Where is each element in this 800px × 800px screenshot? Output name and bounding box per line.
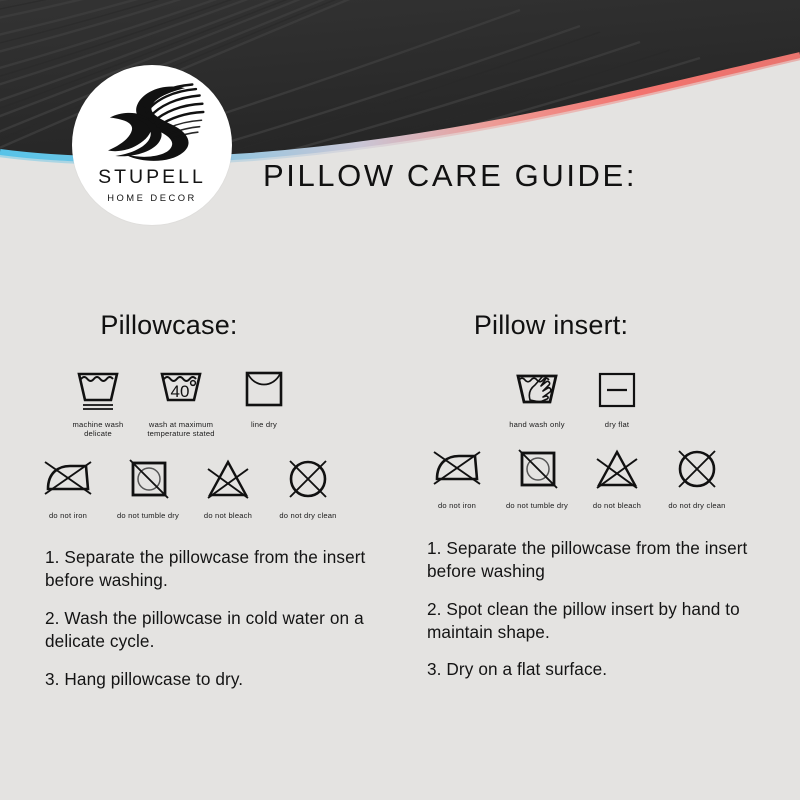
wash-40-degrees-icon: 40 xyxy=(156,363,206,415)
pillow-insert-steps: 1. Separate the pillowcase from the inse… xyxy=(405,537,785,681)
pillowcase-icon-row-1: machine washdelicate 40 wash at maximumt… xyxy=(20,363,400,439)
dry-flat-icon xyxy=(592,363,642,415)
step-item: 3. Hang pillowcase to dry. xyxy=(45,668,394,691)
care-icon-caption: do not iron xyxy=(438,501,476,510)
do-not-bleach-icon xyxy=(200,453,256,505)
care-icon-caption: do not bleach xyxy=(593,501,641,510)
care-icon-caption: do not dry clean xyxy=(668,501,725,510)
care-icon-cell: do not iron xyxy=(28,453,108,520)
pillowcase-steps: 1. Separate the pillowcase from the inse… xyxy=(20,546,400,690)
pillow-insert-section: Pillow insert: hand wash only xyxy=(405,310,785,696)
care-icon-cell: dry flat xyxy=(577,363,657,429)
hand-wash-only-icon xyxy=(512,363,562,415)
do-not-bleach-icon xyxy=(589,443,645,495)
care-icon-caption: dry flat xyxy=(605,420,629,429)
care-icon-cell: do not bleach xyxy=(188,453,268,520)
care-icon-cell: machine washdelicate xyxy=(58,363,138,439)
machine-wash-delicate-icon xyxy=(73,363,123,415)
do-not-tumble-dry-icon xyxy=(120,453,176,505)
care-icon-cell: 40 wash at maximumtemperature stated xyxy=(138,363,224,439)
care-icon-caption: do not tumble dry xyxy=(117,511,179,520)
step-item: 2. Spot clean the pillow insert by hand … xyxy=(427,598,779,644)
step-item: 1. Separate the pillowcase from the inse… xyxy=(45,546,394,592)
care-icon-caption: line dry xyxy=(251,420,277,429)
care-icon-caption: wash at maximumtemperature stated xyxy=(147,420,214,439)
step-item: 1. Separate the pillowcase from the inse… xyxy=(427,537,779,583)
care-icon-cell: do not tumble dry xyxy=(108,453,188,520)
brand-name: STUPELL xyxy=(98,168,206,188)
care-icon-cell: do not bleach xyxy=(577,443,657,510)
pillow-insert-icon-row-2: do not iron do not tumble dry xyxy=(405,443,785,510)
care-icon-caption: machine washdelicate xyxy=(73,420,124,439)
care-icon-cell: hand wash only xyxy=(497,363,577,429)
do-not-iron-icon xyxy=(40,453,96,505)
brand-tagline: HOME DECOR xyxy=(107,193,197,202)
do-not-tumble-dry-icon xyxy=(509,443,565,495)
pillowcase-icon-row-2: do not iron do not tumble dry xyxy=(20,453,400,520)
brand-logo-badge: STUPELL HOME DECOR xyxy=(72,65,232,225)
care-icon-cell: do not dry clean xyxy=(657,443,737,510)
pillowcase-section: Pillowcase: machine washdelicate xyxy=(20,310,400,706)
care-icon-cell: do not tumble dry xyxy=(497,443,577,510)
pillowcase-heading: Pillowcase: xyxy=(20,310,400,341)
do-not-dry-clean-icon xyxy=(669,443,725,495)
do-not-iron-icon xyxy=(429,443,485,495)
care-icon-cell: do not dry clean xyxy=(268,453,348,520)
step-item: 2. Wash the pillowcase in cold water on … xyxy=(45,607,394,653)
care-icon-caption: hand wash only xyxy=(509,420,565,429)
care-icon-caption: do not iron xyxy=(49,511,87,520)
pillow-insert-icon-row-1: hand wash only dry flat xyxy=(405,363,785,429)
care-icon-caption: do not bleach xyxy=(204,511,252,520)
care-icon-caption: do not tumble dry xyxy=(506,501,568,510)
care-icon-caption: do not dry clean xyxy=(279,511,336,520)
line-dry-icon xyxy=(239,363,289,415)
stupell-swoosh-logo-icon xyxy=(97,79,207,167)
care-guide-page: STUPELL HOME DECOR PILLOW CARE GUIDE: Pi… xyxy=(0,0,800,800)
care-icon-cell: line dry xyxy=(224,363,304,439)
step-item: 3. Dry on a flat surface. xyxy=(427,658,779,681)
pillow-insert-heading: Pillow insert: xyxy=(405,310,785,341)
care-icon-cell: do not iron xyxy=(417,443,497,510)
svg-text:40: 40 xyxy=(171,382,190,401)
do-not-dry-clean-icon xyxy=(280,453,336,505)
